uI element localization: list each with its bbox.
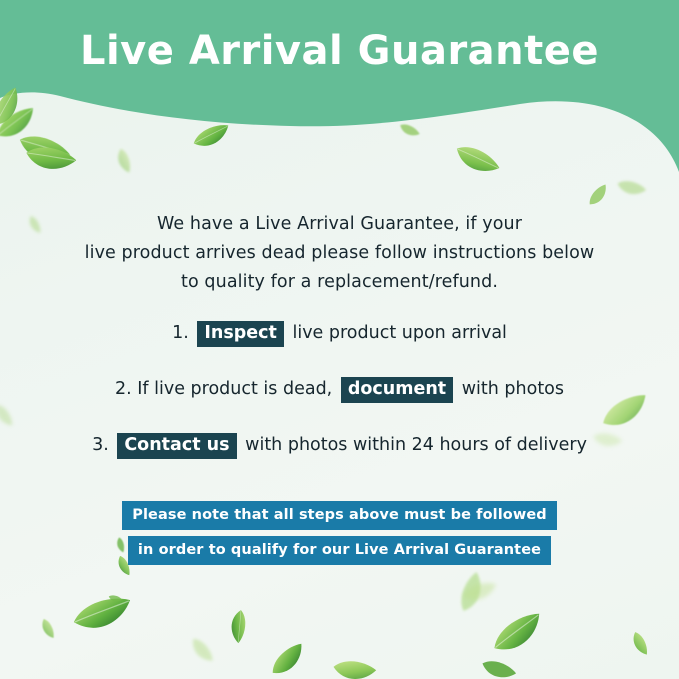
- step-number: 2.: [115, 379, 132, 399]
- step-text-after: live product upon arrival: [292, 323, 506, 343]
- step-text-after: with photos: [462, 379, 564, 399]
- steps-list: 1. Inspect live product upon arrival 2. …: [40, 320, 639, 459]
- note-bar-line-2: in order to qualify for our Live Arrival…: [128, 536, 551, 565]
- poster-content: We have a Live Arrival Guarantee, if you…: [0, 0, 679, 679]
- step-text-before: If live product is dead,: [137, 379, 332, 399]
- note-bar-line-1: Please note that all steps above must be…: [122, 501, 557, 530]
- note-row-2: in order to qualify for our Live Arrival…: [0, 536, 679, 565]
- step-badge-contact-us[interactable]: Contact us: [117, 433, 236, 459]
- intro-paragraph: We have a Live Arrival Guarantee, if you…: [60, 210, 619, 297]
- intro-line-2: live product arrives dead please follow …: [60, 239, 619, 268]
- step-number: 1.: [172, 323, 189, 343]
- step-badge-document: document: [341, 377, 453, 403]
- step-item-2: 2. If live product is dead, document wit…: [40, 376, 639, 403]
- note-row-1: Please note that all steps above must be…: [0, 501, 679, 530]
- intro-line-3: to quality for a replacement/refund.: [60, 268, 619, 297]
- step-number: 3.: [92, 435, 109, 455]
- step-item-3: 3. Contact us with photos within 24 hour…: [40, 432, 639, 459]
- live-arrival-guarantee-poster: Live Arrival Guarantee: [0, 0, 679, 679]
- footer-notes: Please note that all steps above must be…: [0, 501, 679, 565]
- step-badge-inspect: Inspect: [197, 321, 284, 347]
- intro-line-1: We have a Live Arrival Guarantee, if you…: [60, 210, 619, 239]
- step-item-1: 1. Inspect live product upon arrival: [40, 320, 639, 347]
- step-text-after: with photos within 24 hours of delivery: [245, 435, 587, 455]
